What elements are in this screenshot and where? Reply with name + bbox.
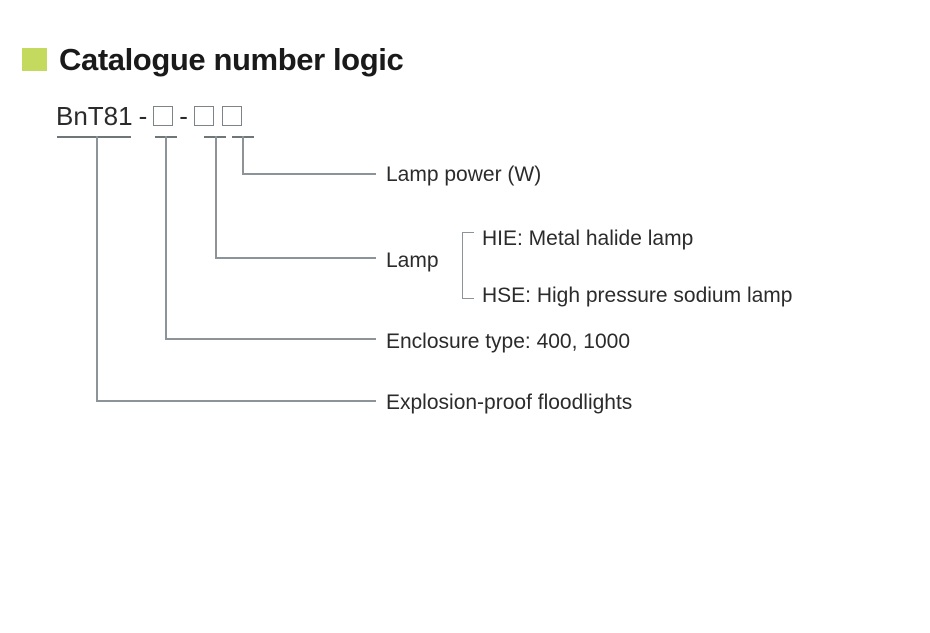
leader-horizontal-enclosure <box>165 338 376 340</box>
code-prefix: BnT81 <box>56 103 133 129</box>
catalogue-code: BnT81 - - <box>56 102 242 130</box>
leader-vertical-lamp <box>215 136 217 258</box>
leader-vertical-product <box>96 136 98 401</box>
underline-prefix <box>57 136 131 138</box>
leader-horizontal-product <box>96 400 376 402</box>
page-title: Catalogue number logic <box>22 44 403 75</box>
label-lamp: Lamp <box>386 250 439 271</box>
leader-horizontal-lamp <box>215 257 376 259</box>
code-dash-2: - <box>179 103 188 129</box>
title-marker-square <box>22 48 47 71</box>
code-box-power <box>222 106 242 126</box>
leader-vertical-lamp-power <box>242 136 244 174</box>
leader-horizontal-lamp-power <box>242 173 376 175</box>
label-lamp-option-hse: HSE: High pressure sodium lamp <box>482 285 792 306</box>
label-product: Explosion-proof floodlights <box>386 392 632 413</box>
page-title-text: Catalogue number logic <box>59 44 403 75</box>
label-lamp-option-hie: HIE: Metal halide lamp <box>482 228 693 249</box>
label-lamp-power: Lamp power (W) <box>386 164 541 185</box>
lamp-options-bracket <box>462 232 474 299</box>
code-box-enclosure <box>153 106 173 126</box>
label-enclosure-type: Enclosure type: 400, 1000 <box>386 331 630 352</box>
leader-vertical-enclosure <box>165 136 167 339</box>
code-box-lamp <box>194 106 214 126</box>
catalogue-number-logic-page: Catalogue number logic BnT81 - - Lamp po… <box>0 0 930 633</box>
code-dash-1: - <box>139 103 148 129</box>
